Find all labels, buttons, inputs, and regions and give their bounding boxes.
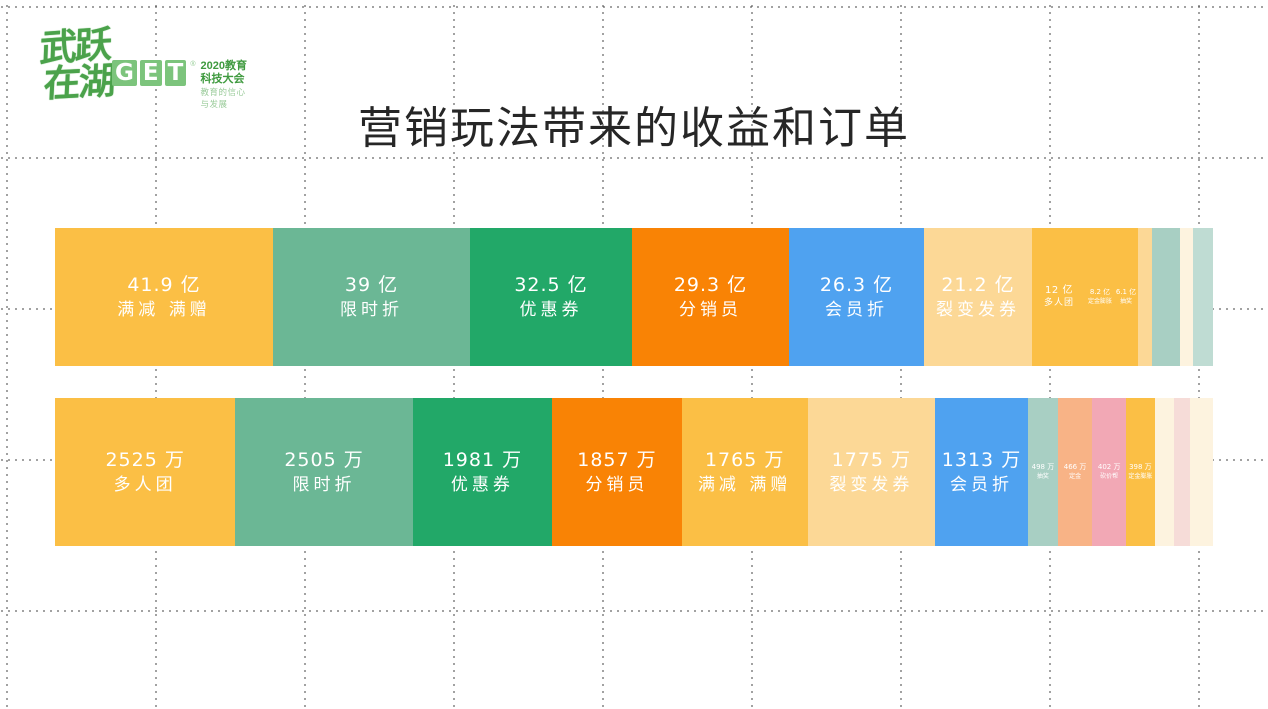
segment-value: 12 亿 xyxy=(1045,284,1073,297)
segment-value: 29.3 亿 xyxy=(674,273,747,298)
bar-segment-orders-11 xyxy=(1155,398,1175,546)
segment-label: 满减 满赠 xyxy=(117,298,210,322)
bar-segment-revenue-8: 6.1 亿抽奖 xyxy=(1114,228,1138,366)
bar-segment-orders-3: 1857 万分销员 xyxy=(552,398,682,546)
segment-label: 定金膨胀 xyxy=(1088,297,1112,306)
bar-segment-orders-12 xyxy=(1174,398,1190,546)
segment-label: 裂变发券 xyxy=(936,298,1020,322)
bar-segment-orders-10: 398 万定金膨胀 xyxy=(1126,398,1154,546)
bar-segment-orders-1: 2505 万限时折 xyxy=(235,398,412,546)
bar-segment-orders-2: 1981 万优惠券 xyxy=(413,398,552,546)
segment-label: 限时折 xyxy=(340,298,403,322)
page-title: 营销玩法带来的收益和订单 xyxy=(0,92,1268,156)
bar-segment-revenue-2: 32.5 亿优惠券 xyxy=(470,228,632,366)
bar-segment-orders-8: 466 万定金 xyxy=(1058,398,1092,546)
bar-segment-orders-13 xyxy=(1190,398,1213,546)
segment-label: 分销员 xyxy=(585,473,648,497)
segment-value: 39 亿 xyxy=(345,273,398,298)
segment-value: 1313 万 xyxy=(942,448,1021,473)
segment-label: 优惠券 xyxy=(451,473,514,497)
segment-label: 会员折 xyxy=(950,473,1013,497)
segment-value: 1775 万 xyxy=(832,448,911,473)
segment-value: 466 万 xyxy=(1064,463,1087,472)
segment-label: 分销员 xyxy=(679,298,742,322)
segment-value: 2525 万 xyxy=(105,448,184,473)
stacked-bar-revenue: 41.9 亿满减 满赠39 亿限时折32.5 亿优惠券29.3 亿分销员26.3… xyxy=(55,228,1213,366)
bar-segment-revenue-9 xyxy=(1138,228,1152,366)
segment-label: 多人团 xyxy=(114,473,177,497)
segment-value: 402 万 xyxy=(1098,463,1121,472)
bar-segment-orders-4: 1765 万满减 满赠 xyxy=(682,398,808,546)
registered-mark-icon: ® xyxy=(190,61,195,68)
conference-logo: 武跃 在湖 G E T ® 2020教育科技大会 教育的信心与发展 xyxy=(24,14,254,96)
bar-segment-revenue-5: 21.2 亿裂变发券 xyxy=(924,228,1032,366)
bar-segment-revenue-10 xyxy=(1152,228,1180,366)
segment-label: 定金 xyxy=(1069,472,1081,481)
bar-segment-orders-0: 2525 万多人团 xyxy=(55,398,235,546)
bar-segment-revenue-0: 41.9 亿满减 满赠 xyxy=(55,228,273,366)
get-letter-e: E xyxy=(140,60,162,86)
segment-label: 满减 满赠 xyxy=(698,473,791,497)
segment-label: 定金膨胀 xyxy=(1128,472,1152,481)
segment-label: 限时折 xyxy=(293,473,356,497)
segment-label: 裂变发券 xyxy=(829,473,913,497)
segment-value: 6.1 亿 xyxy=(1116,288,1136,297)
segment-label: 多人团 xyxy=(1044,297,1074,310)
bar-segment-revenue-1: 39 亿限时折 xyxy=(273,228,470,366)
bar-segment-revenue-4: 26.3 亿会员折 xyxy=(789,228,924,366)
bar-segment-revenue-6: 12 亿多人团 xyxy=(1032,228,1086,366)
bar-segment-orders-7: 498 万抽奖 xyxy=(1028,398,1058,546)
bar-segment-orders-5: 1775 万裂变发券 xyxy=(808,398,936,546)
segment-label: 抽奖 xyxy=(1037,472,1049,481)
segment-value: 21.2 亿 xyxy=(941,273,1014,298)
bar-segment-revenue-12 xyxy=(1193,228,1213,366)
segment-value: 8.2 亿 xyxy=(1090,288,1110,297)
segment-value: 32.5 亿 xyxy=(514,273,587,298)
bar-segment-revenue-11 xyxy=(1180,228,1193,366)
segment-label: 抽奖 xyxy=(1120,297,1132,306)
stacked-bar-orders: 2525 万多人团2505 万限时折1981 万优惠券1857 万分销员1765… xyxy=(55,398,1213,546)
segment-value: 1765 万 xyxy=(705,448,784,473)
bar-segment-orders-9: 402 万砍价帮 xyxy=(1092,398,1126,546)
segment-value: 2505 万 xyxy=(284,448,363,473)
get-letter-g: G xyxy=(112,60,137,86)
segment-label: 优惠券 xyxy=(520,298,583,322)
bar-segment-orders-6: 1313 万会员折 xyxy=(935,398,1028,546)
segment-value: 1857 万 xyxy=(577,448,656,473)
segment-value: 26.3 亿 xyxy=(820,273,893,298)
segment-value: 498 万 xyxy=(1032,463,1055,472)
conference-name: 2020教育科技大会 xyxy=(200,60,254,86)
segment-label: 砍价帮 xyxy=(1100,472,1118,481)
segment-label: 会员折 xyxy=(825,298,888,322)
bar-segment-revenue-7: 8.2 亿定金膨胀 xyxy=(1086,228,1114,366)
segment-value: 1981 万 xyxy=(443,448,522,473)
get-letter-t: T xyxy=(165,60,187,86)
segment-value: 41.9 亿 xyxy=(127,273,200,298)
bar-segment-revenue-3: 29.3 亿分销员 xyxy=(632,228,789,366)
segment-value: 398 万 xyxy=(1129,463,1152,472)
